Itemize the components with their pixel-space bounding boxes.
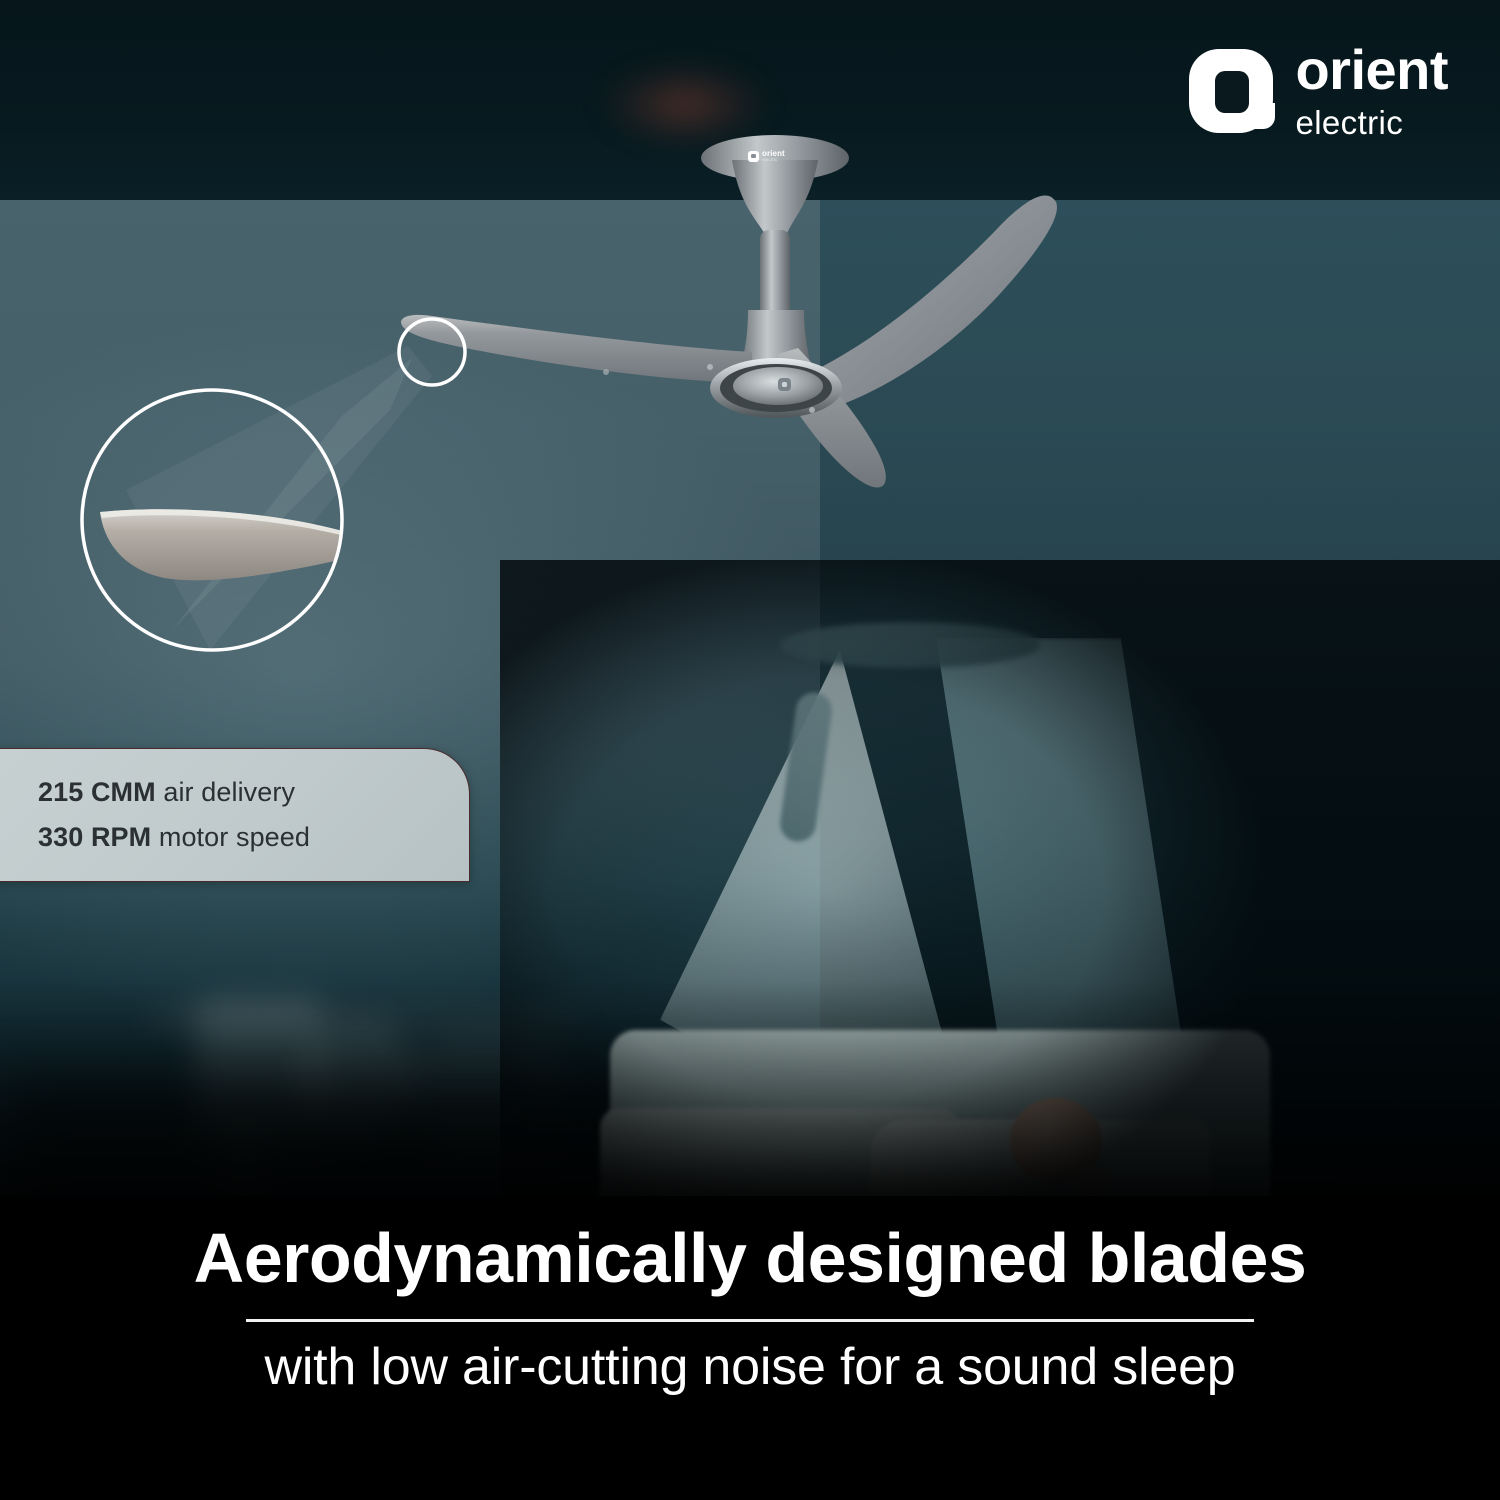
headline: Aerodynamically designed blades (0, 1218, 1500, 1298)
brand-logo: orient electric (1189, 42, 1448, 139)
spec-line-air-delivery: 215 CMM air delivery (38, 777, 469, 808)
hub-logo-icon (778, 378, 791, 391)
caption-divider (246, 1319, 1254, 1322)
subline: with low air-cutting noise for a sound s… (0, 1337, 1500, 1397)
spec-line-motor-speed: 330 RPM motor speed (38, 822, 469, 853)
magnifier-cone-2 (126, 346, 432, 650)
brand-name-line1: orient (1295, 42, 1448, 98)
spec-value-air-delivery: 215 CMM (38, 777, 156, 807)
orient-q-mark-icon (1189, 49, 1273, 133)
blade-magnifier-callout (60, 300, 530, 700)
fan-screw-left (707, 364, 713, 370)
fan-screw-arm (603, 369, 609, 375)
spec-label-air-delivery: air delivery (156, 777, 295, 807)
product-marketing-banner: orient electric (0, 0, 1500, 1500)
spec-label-motor-speed: motor speed (151, 822, 310, 852)
brand-name-line2: electric (1295, 106, 1448, 139)
canopy-ring (780, 622, 1040, 668)
fan-canopy-cone (732, 160, 818, 236)
fan-downrod (760, 230, 790, 320)
canopy-logo-line2: electric (762, 158, 785, 163)
spec-callout-box: 215 CMM air delivery 330 RPM motor speed (0, 748, 470, 882)
canopy-brand-logo: orient electric (748, 148, 804, 164)
canopy-logo-mark-icon (748, 151, 759, 162)
fan-screw-right (809, 407, 815, 413)
spec-value-motor-speed: 330 RPM (38, 822, 151, 852)
